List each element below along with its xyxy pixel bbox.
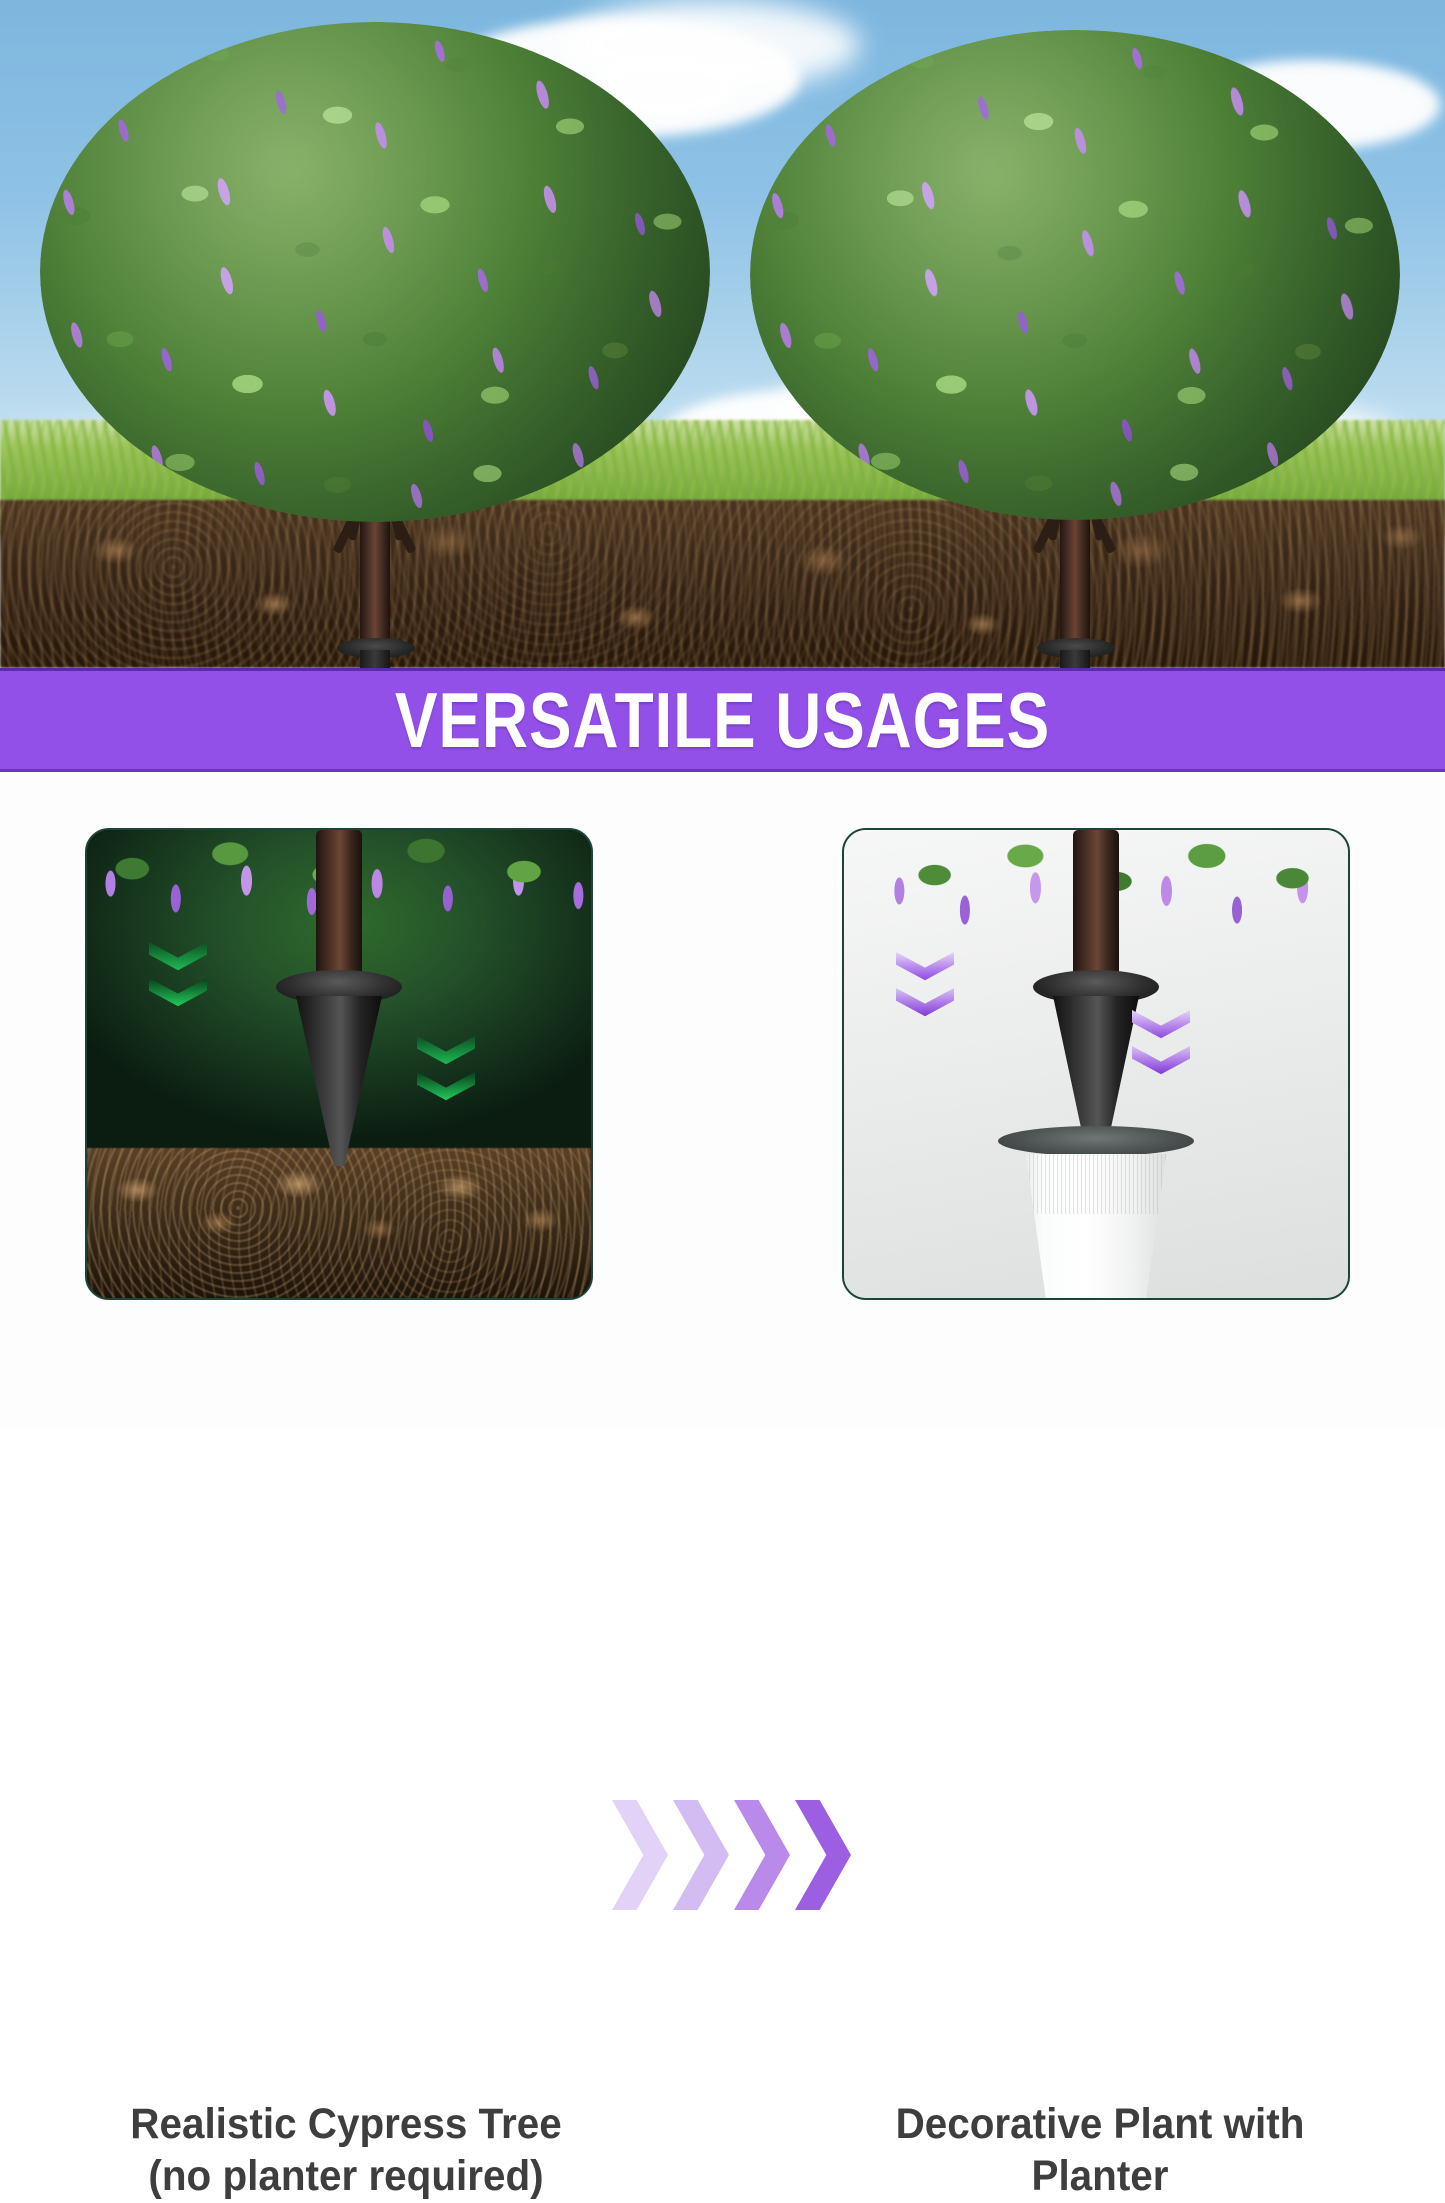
caption-indoor-line2: Planter [837, 2150, 1363, 2202]
chevron-down-icon [417, 1036, 475, 1066]
product-infographic-page: VERSATILE USAGES [0, 0, 1445, 1427]
stake-spike [296, 996, 382, 1166]
chevron-right-icon [734, 1800, 790, 1910]
comparison-section: Realistic Cypress Tree (no planter requi… [0, 772, 1445, 1427]
stake-body [1060, 650, 1090, 668]
versatile-usages-banner: VERSATILE USAGES [0, 668, 1445, 772]
chevron-down-icon [1132, 1010, 1190, 1040]
caption-outdoor-line1: Realistic Cypress Tree [130, 2100, 561, 2148]
chevron-right-icon [795, 1800, 851, 1910]
stake-trunk [1073, 830, 1119, 980]
canopy-shading [40, 22, 710, 522]
down-chevrons-right [1132, 1010, 1190, 1082]
planter-rim [998, 1126, 1194, 1156]
canopy-shading [750, 30, 1400, 520]
down-chevrons-left [149, 942, 207, 1014]
tree-canopy [750, 30, 1400, 520]
caption-outdoor-line2: (no planter required) [83, 2150, 609, 2202]
panel-indoor [842, 828, 1350, 1300]
tree-trunk [360, 500, 390, 650]
down-chevrons-right [417, 1036, 475, 1108]
chevron-down-icon [896, 952, 954, 982]
chevron-right-icon [612, 1800, 668, 1910]
down-chevrons-left [896, 952, 954, 1024]
hero-product-photo [0, 0, 1445, 668]
panel-outdoor [85, 828, 593, 1300]
tree-trunk [1060, 500, 1090, 650]
outdoor-stake-assembly [279, 830, 399, 1298]
caption-indoor: Decorative Plant with Planter [837, 2098, 1363, 2203]
chevron-down-icon [149, 978, 207, 1008]
stake-trunk [316, 830, 362, 980]
chevron-right-icon [673, 1800, 729, 1910]
stake-body [360, 650, 390, 668]
chevron-down-icon [896, 988, 954, 1018]
transition-arrows [612, 1800, 851, 1910]
chevron-down-icon [149, 942, 207, 972]
caption-outdoor: Realistic Cypress Tree (no planter requi… [83, 2098, 609, 2203]
banner-headline: VERSATILE USAGES [395, 681, 1050, 759]
tree-canopy [40, 22, 710, 522]
chevron-down-icon [1132, 1046, 1190, 1076]
chevron-down-icon [417, 1072, 475, 1102]
caption-indoor-line1: Decorative Plant with [896, 2100, 1305, 2148]
soil-cross-section [0, 500, 1445, 668]
